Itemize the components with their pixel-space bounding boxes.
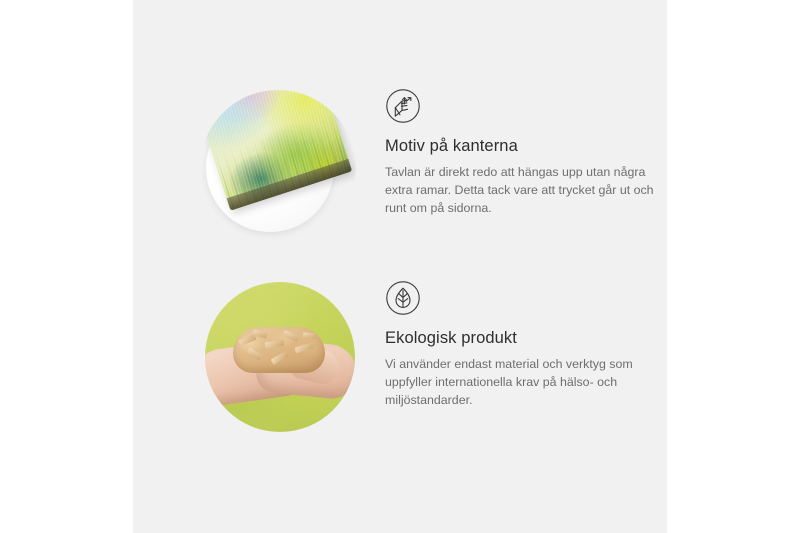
feature-block-edges: Motiv på kanterna Tavlan är direkt redo … <box>133 88 667 248</box>
wood-chip <box>282 330 299 342</box>
hands-wood-chips-photo <box>205 282 355 432</box>
leaf-icon <box>385 280 421 316</box>
wood-chip <box>303 332 317 339</box>
wood-chip <box>238 334 256 346</box>
canvas-corner-photo <box>200 90 356 246</box>
product-feature-page: Motiv på kanterna Tavlan är direkt redo … <box>0 0 800 533</box>
wood-chip <box>265 340 285 349</box>
feature-body-edges: Tavlan är direkt redo att hängas upp uta… <box>385 163 657 218</box>
wood-chip <box>247 347 263 360</box>
feature-body-eco: Vi använder endast material och verktyg … <box>385 355 657 410</box>
feature-title-eco: Ekologisk produkt <box>385 329 667 349</box>
content-panel <box>133 0 667 533</box>
feature-text-eco: Ekologisk produkt Vi använder endast mat… <box>385 280 667 410</box>
wood-chip <box>295 343 314 354</box>
wood-chips-pile <box>233 327 325 373</box>
feature-title-edges: Motiv på kanterna <box>385 137 667 157</box>
canvas-wrapped-edges-icon <box>385 88 421 124</box>
feature-block-eco: Ekologisk produkt Vi använder endast mat… <box>133 280 667 440</box>
feature-text-edges: Motiv på kanterna Tavlan är direkt redo … <box>385 88 667 218</box>
wood-chip <box>271 351 289 365</box>
